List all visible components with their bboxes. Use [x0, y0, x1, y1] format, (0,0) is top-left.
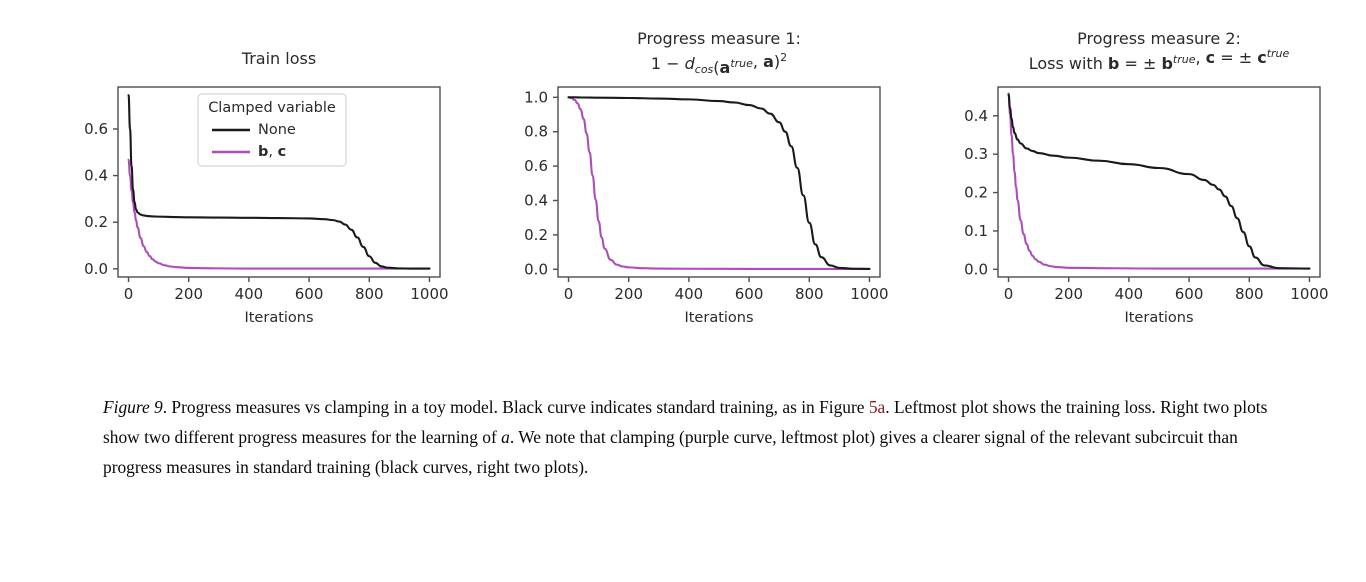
y-tick-label: 0.6: [84, 120, 108, 138]
chart-legend: Clamped variableNoneb, c: [198, 94, 346, 166]
caption-figure-number: Figure 9: [103, 397, 163, 417]
y-tick-label: 0.8: [524, 123, 548, 141]
x-axis-label: Iterations: [684, 310, 753, 326]
x-tick-label: 1000: [850, 285, 888, 303]
chart-subtitle-progress-measure-2: Loss with b = ± btrue, c = ± ctrue: [1029, 47, 1290, 73]
chart-title-progress-measure-2: Progress measure 2:: [1077, 29, 1241, 48]
chart-subtitle-progress-measure-1: 1 − dcos(atrue, a)2: [651, 51, 787, 77]
x-tick-label: 0: [124, 285, 134, 303]
y-tick-label: 0.3: [964, 145, 988, 163]
x-tick-label: 1000: [1290, 285, 1328, 303]
y-tick-label: 1.0: [524, 88, 548, 106]
y-tick-label: 0.4: [524, 191, 548, 209]
chart-title-progress-measure-1: Progress measure 1:: [637, 29, 801, 48]
x-tick-label: 800: [355, 285, 384, 303]
chart-svg-progress-measure-2: Progress measure 2:Loss with b = ± btrue…: [890, 0, 1330, 340]
chart-svg-progress-measure-1: Progress measure 1:1 − dcos(atrue, a)202…: [450, 0, 890, 340]
chart-panel-train-loss: Train loss020040060080010000.00.20.40.6I…: [10, 0, 450, 340]
legend-label-none: None: [258, 122, 296, 138]
y-tick-label: 0.1: [964, 222, 988, 240]
x-tick-label: 600: [1175, 285, 1204, 303]
x-tick-label: 200: [614, 285, 643, 303]
y-tick-label: 0.2: [524, 226, 548, 244]
x-tick-label: 600: [295, 285, 324, 303]
caption-math-variable: a: [501, 427, 510, 447]
x-axis-label: Iterations: [1124, 310, 1193, 326]
y-tick-label: 0.2: [964, 184, 988, 202]
y-tick-label: 0.0: [84, 260, 108, 278]
legend-label-bc: b, c: [258, 144, 286, 160]
y-tick-label: 0.4: [964, 107, 988, 125]
y-tick-label: 0.4: [84, 167, 108, 185]
y-tick-label: 0.0: [524, 260, 548, 278]
x-tick-label: 200: [1054, 285, 1083, 303]
y-tick-label: 0.2: [84, 213, 108, 231]
x-tick-label: 800: [1235, 285, 1264, 303]
x-tick-label: 0: [1004, 285, 1014, 303]
figure-plot-area: Train loss020040060080010000.00.20.40.6I…: [0, 0, 1366, 340]
x-axis-label: Iterations: [244, 310, 313, 326]
x-tick-label: 400: [675, 285, 704, 303]
chart-title-train-loss: Train loss: [241, 49, 316, 68]
x-tick-label: 600: [735, 285, 764, 303]
figure-caption: Figure 9. Progress measures vs clamping …: [103, 392, 1278, 482]
legend-title: Clamped variable: [208, 100, 336, 116]
plot-frame: [998, 87, 1320, 277]
x-tick-label: 800: [795, 285, 824, 303]
caption-cross-reference-link[interactable]: 5a: [869, 397, 885, 417]
chart-panel-progress-measure-1: Progress measure 1:1 − dcos(atrue, a)202…: [450, 0, 890, 340]
y-tick-label: 0.6: [524, 157, 548, 175]
chart-svg-train-loss: Train loss020040060080010000.00.20.40.6I…: [10, 0, 450, 340]
x-tick-label: 200: [174, 285, 203, 303]
chart-panel-progress-measure-2: Progress measure 2:Loss with b = ± btrue…: [890, 0, 1330, 340]
x-tick-label: 400: [235, 285, 264, 303]
y-tick-label: 0.0: [964, 260, 988, 278]
x-tick-label: 400: [1115, 285, 1144, 303]
x-tick-label: 0: [564, 285, 574, 303]
caption-text-part-1: . Progress measures vs clamping in a toy…: [163, 397, 869, 417]
x-tick-label: 1000: [410, 285, 448, 303]
